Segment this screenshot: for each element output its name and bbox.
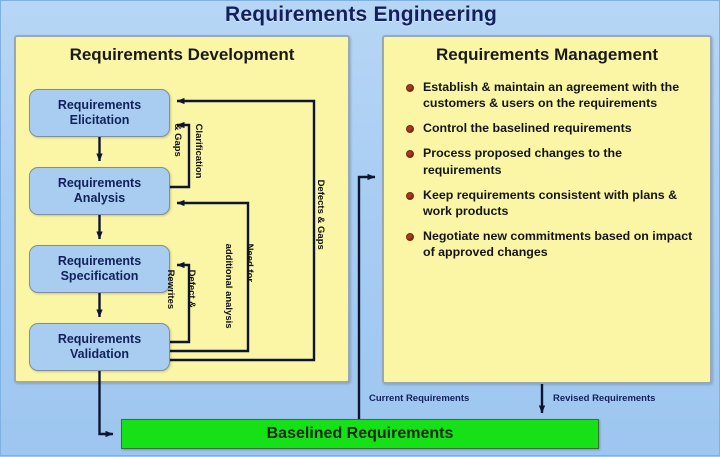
diagram-canvas: Requirements Engineering Requirements De…: [0, 0, 720, 456]
box-line-2: Elicitation: [70, 113, 130, 128]
edge-label-defect-and-rewrites: Defect & Rewrites: [155, 259, 206, 309]
arrow-current-requirements: [359, 177, 375, 419]
process-box-requirements-validation[interactable]: Requirements Validation: [29, 323, 170, 371]
box-line-2: Analysis: [74, 191, 125, 206]
edge-label-line-2: additional analysis: [223, 244, 234, 329]
flow-label-current-requirements: Current Requirements: [369, 393, 469, 404]
connector-layer: [1, 1, 720, 457]
edge-label-line-2: & Gaps: [172, 124, 183, 157]
box-line-1: Requirements: [58, 332, 141, 347]
arrow-validation-to-baselined: [100, 371, 114, 434]
box-line-2: Validation: [70, 347, 129, 362]
flow-label-revised-requirements: Revised Requirements: [553, 393, 655, 404]
process-box-requirements-analysis[interactable]: Requirements Analysis: [29, 167, 170, 215]
edge-label-line-1: Defects & Gaps: [315, 180, 326, 250]
baselined-requirements-box[interactable]: Baselined Requirements: [121, 419, 599, 449]
process-box-requirements-elicitation[interactable]: Requirements Elicitation: [29, 89, 170, 137]
box-line-2: Specification: [61, 269, 139, 284]
edge-label-line-1: Need for: [244, 244, 255, 283]
box-line-1: Requirements: [58, 176, 141, 191]
edge-label-line-1: Clarification: [193, 124, 204, 179]
edge-label-need-for-additional-analysis: Need for additional analysis: [213, 233, 264, 329]
edge-label-line-2: Rewrites: [165, 270, 176, 310]
process-box-requirements-specification[interactable]: Requirements Specification: [29, 245, 170, 293]
box-line-1: Requirements: [58, 254, 141, 269]
edge-label-defects-and-gaps: Defects & Gaps: [304, 169, 335, 250]
edge-label-clarification-and-gaps: Clarification & Gaps: [162, 113, 213, 178]
baselined-requirements-label: Baselined Requirements: [267, 425, 454, 443]
box-line-1: Requirements: [58, 98, 141, 113]
edge-label-line-1: Defect &: [186, 270, 197, 309]
